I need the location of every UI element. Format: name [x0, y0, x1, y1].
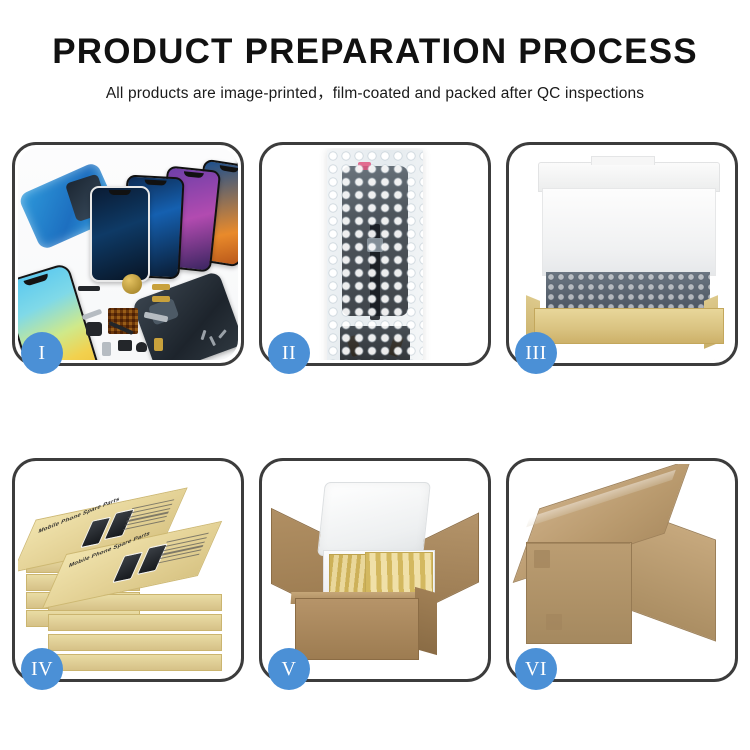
step-badge-2: II — [268, 332, 310, 374]
foam-lid-icon — [317, 482, 431, 556]
step-badge-1: I — [21, 332, 63, 374]
step-badge-3: III — [515, 332, 557, 374]
page-title: PRODUCT PREPARATION PROCESS — [0, 34, 750, 71]
box-spec-lines-back — [121, 499, 174, 533]
step-card-1[interactable]: I — [12, 142, 244, 366]
step-card-4[interactable]: Mobile Phone Spare Parts Mo — [12, 458, 244, 682]
step-badge-5: V — [268, 648, 310, 690]
step-image-5 — [265, 464, 485, 676]
step-image-1 — [18, 148, 238, 360]
carton-tab-upper — [534, 550, 550, 568]
step-image-6 — [512, 464, 732, 676]
coil-icon — [122, 274, 142, 294]
spare-parts-group — [78, 278, 208, 360]
box-side-7 — [48, 634, 222, 651]
step-image-2 — [265, 148, 485, 360]
bubble-wrap-bag-icon — [327, 150, 423, 360]
step-card-6[interactable]: VI — [506, 458, 738, 682]
step-card-3[interactable]: III — [506, 142, 738, 366]
box-stack: Mobile Phone Spare Parts Mo — [20, 482, 238, 676]
box-spec-lines-front — [156, 533, 209, 567]
step-card-2[interactable]: II — [259, 142, 491, 366]
phone-1-icon — [90, 186, 150, 282]
step-card-5[interactable]: V — [259, 458, 491, 682]
screws-icon — [202, 328, 232, 352]
connector-icon — [367, 238, 383, 252]
carton-front-icon — [295, 598, 419, 660]
kraft-box-front-icon — [534, 308, 724, 344]
page-subtitle: All products are image-printed，film-coat… — [0, 81, 750, 103]
carton-seam-top — [526, 542, 630, 544]
step-badge-6: VI — [515, 648, 557, 690]
phone-lineup — [90, 160, 238, 280]
screen-bottom-icon — [340, 326, 410, 360]
step-badge-4: IV — [21, 648, 63, 690]
wrapped-screens-stack-icon — [546, 272, 710, 310]
carton-tab-lower — [546, 614, 562, 630]
header: PRODUCT PREPARATION PROCESS All products… — [0, 34, 750, 103]
steps-grid: I II — [12, 142, 738, 682]
product-preparation-infographic: PRODUCT PREPARATION PROCESS All products… — [0, 0, 750, 750]
foam-sheet-icon — [542, 188, 716, 276]
pink-tape-icon — [358, 162, 371, 170]
box-side-8 — [48, 654, 222, 671]
step-image-3 — [512, 148, 732, 360]
step-image-4: Mobile Phone Spare Parts Mo — [18, 464, 238, 676]
box-side-6 — [48, 614, 222, 631]
